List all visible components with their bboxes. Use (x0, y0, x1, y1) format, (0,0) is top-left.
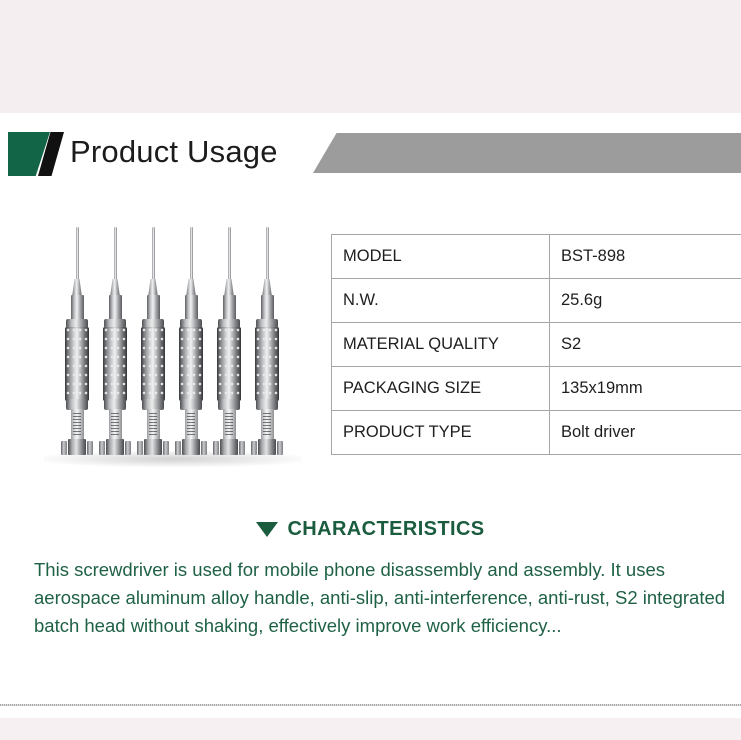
shaft-print (73, 413, 81, 437)
cap-tab-left (251, 441, 257, 455)
cap-tab-right (87, 441, 93, 455)
cap-tab-left (61, 441, 67, 455)
characteristics-heading: CHARACTERISTICS (0, 516, 741, 542)
spec-value: BST-898 (550, 235, 741, 279)
triangle-down-icon (256, 522, 278, 537)
knurled-grip (141, 327, 165, 401)
blade (114, 227, 117, 281)
bottom-accent-band (0, 718, 741, 740)
cap-tab-right (201, 441, 207, 455)
top-accent-band (0, 0, 741, 113)
cap (68, 439, 86, 455)
spec-key: MATERIAL QUALITY (332, 323, 550, 367)
footer-divider (0, 704, 741, 706)
sleeve (71, 295, 84, 321)
screwdriver-4 (176, 227, 206, 455)
cap-tab-left (99, 441, 105, 455)
sleeve (223, 295, 236, 321)
spec-value: Bolt driver (550, 411, 741, 455)
knurled-grip (65, 327, 89, 401)
shaft-print (263, 413, 271, 437)
characteristics-section: CHARACTERISTICS This screwdriver is used… (0, 516, 741, 640)
shaft-print (149, 413, 157, 437)
table-row: MODEL BST-898 (332, 235, 741, 279)
spec-key: PACKAGING SIZE (332, 367, 550, 411)
shaft-print (187, 413, 195, 437)
cap-tab-right (125, 441, 131, 455)
characteristics-body: This screwdriver is used for mobile phon… (0, 556, 741, 640)
knurled-grip (103, 327, 127, 401)
table-row: PACKAGING SIZE 135x19mm (332, 367, 741, 411)
sleeve (185, 295, 198, 321)
table-row: PRODUCT TYPE Bolt driver (332, 411, 741, 455)
cap-tab-left (213, 441, 219, 455)
cap-tab-right (163, 441, 169, 455)
spec-key: PRODUCT TYPE (332, 411, 550, 455)
screwdriver-3 (138, 227, 168, 455)
knurled-grip (179, 327, 203, 401)
spec-value: S2 (550, 323, 741, 367)
cap (258, 439, 276, 455)
spec-value: 25.6g (550, 279, 741, 323)
screwdriver-1 (62, 227, 92, 455)
cap-tab-right (239, 441, 245, 455)
sleeve (109, 295, 122, 321)
table-row: MATERIAL QUALITY S2 (332, 323, 741, 367)
sleeve (147, 295, 160, 321)
blade (266, 227, 269, 281)
screwdriver-6 (252, 227, 282, 455)
sleeve (261, 295, 274, 321)
cap (220, 439, 238, 455)
blade (152, 227, 155, 281)
section-header: Product Usage (0, 124, 741, 180)
shaft-print (225, 413, 233, 437)
blade (190, 227, 193, 281)
page-title: Product Usage (70, 126, 278, 178)
knurled-grip (217, 327, 241, 401)
screwdriver-2 (100, 227, 130, 455)
cap-tab-left (175, 441, 181, 455)
knurled-grip (255, 327, 279, 401)
spec-key: MODEL (332, 235, 550, 279)
spec-value: 135x19mm (550, 367, 741, 411)
shaft-print (111, 413, 119, 437)
blade (76, 227, 79, 281)
cap-tab-right (277, 441, 283, 455)
cap-tab-left (137, 441, 143, 455)
characteristics-heading-label: CHARACTERISTICS (287, 518, 484, 540)
cap (182, 439, 200, 455)
blade (228, 227, 231, 281)
cap (144, 439, 162, 455)
header-gray-banner (313, 133, 741, 173)
cap (106, 439, 124, 455)
table-row: N.W. 25.6g (332, 279, 741, 323)
screwdriver-5 (214, 227, 244, 455)
specification-table: MODEL BST-898 N.W. 25.6g MATERIAL QUALIT… (331, 234, 741, 455)
product-image (34, 218, 314, 473)
spec-key: N.W. (332, 279, 550, 323)
section-flag-icon (8, 132, 64, 176)
